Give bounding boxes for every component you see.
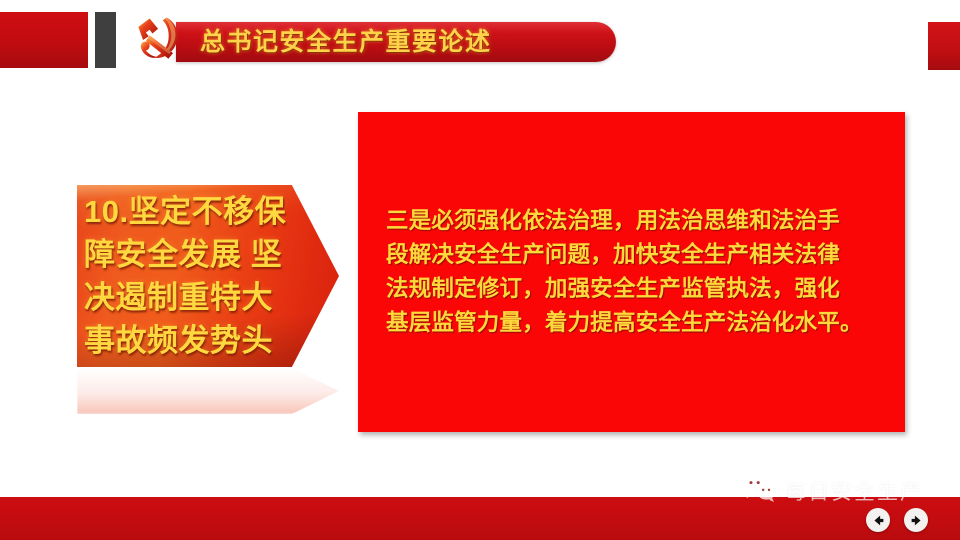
callout-line: 障安全发展 坚 xyxy=(84,233,324,276)
decor-block-red-left xyxy=(0,12,88,68)
content-body-text: 三是必须强化依法治理，用法治思维和法治手 段解决安全生产问题，加快安全生产相关法… xyxy=(386,204,881,340)
content-line: 法规制定修订，加强安全生产监管执法，强化 xyxy=(386,272,881,306)
decor-block-red-right xyxy=(928,22,960,70)
content-line: 三是必须强化依法治理，用法治思维和法治手 xyxy=(386,204,881,238)
previous-slide-button[interactable] xyxy=(866,508,890,532)
page-title: 总书记安全生产重要论述 xyxy=(200,22,492,62)
content-line: 段解决安全生产问题，加快安全生产相关法律 xyxy=(386,238,881,272)
callout-line: 10.坚定不移保 xyxy=(84,190,324,233)
next-slide-button[interactable] xyxy=(904,508,928,532)
footer-band xyxy=(0,497,960,540)
slide-canvas: 总书记安全生产重要论述 10.坚定不移保 障安全发展 坚 决遏制重特大 事故频发… xyxy=(0,0,960,540)
callout-line: 决遏制重特大 xyxy=(84,276,324,319)
cpc-hammer-sickle-emblem-icon xyxy=(128,10,190,70)
content-line: 基层监管力量，着力提高安全生产法治化水平。 xyxy=(386,306,881,340)
decor-block-gray xyxy=(95,12,116,68)
section-callout-text: 10.坚定不移保 障安全发展 坚 决遏制重特大 事故频发势头 xyxy=(84,190,324,362)
callout-line: 事故频发势头 xyxy=(84,319,324,362)
callout-reflection xyxy=(77,368,339,414)
slide-nav-controls xyxy=(866,508,928,532)
